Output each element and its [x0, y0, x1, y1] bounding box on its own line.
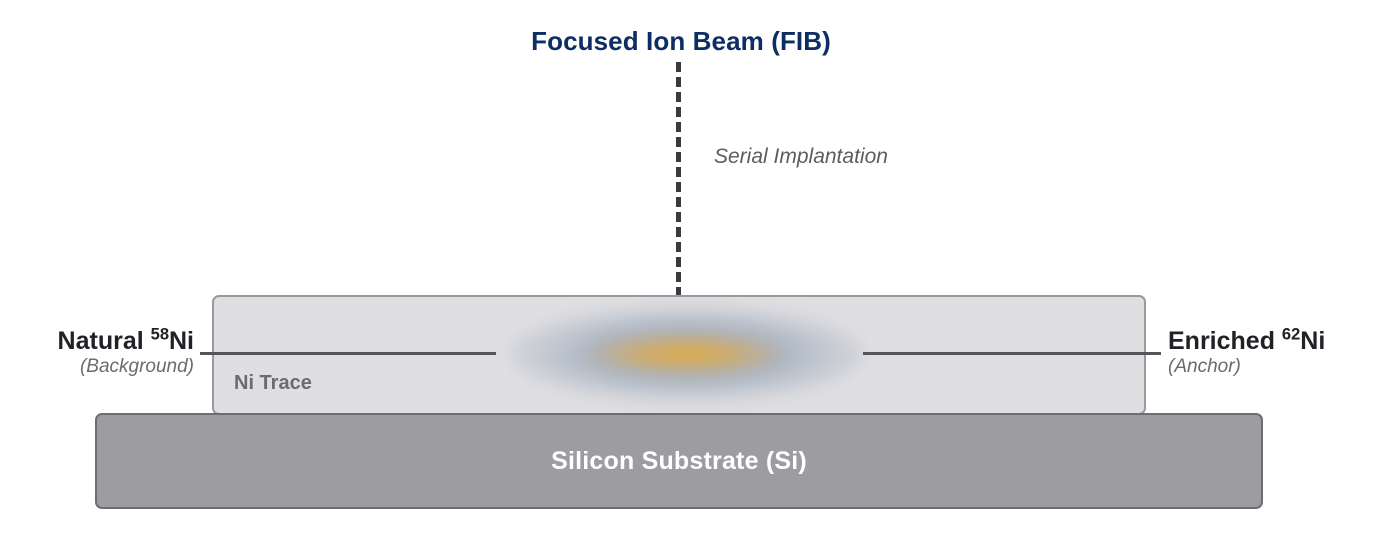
diagram-title: Focused Ion Beam (FIB)	[0, 26, 1362, 57]
enriched-ni-label: Enriched 62Ni (Anchor)	[1168, 328, 1382, 380]
ni-trace-label: Ni Trace	[234, 372, 312, 395]
natural-ni-superscript: 58	[151, 326, 169, 344]
silicon-substrate-layer: Silicon Substrate (Si)	[95, 413, 1263, 509]
natural-ni-main: Natural 58Ni	[8, 328, 194, 354]
leader-line-right	[863, 352, 1161, 355]
enriched-ni-superscript: 62	[1282, 326, 1300, 344]
implantation-core	[586, 333, 786, 375]
natural-ni-prefix: Natural	[58, 327, 151, 355]
enriched-ni-main: Enriched 62Ni	[1168, 328, 1382, 354]
enriched-ni-prefix: Enriched	[1168, 327, 1282, 355]
natural-ni-element: Ni	[169, 327, 194, 355]
natural-ni-label: Natural 58Ni (Background)	[8, 328, 194, 380]
serial-implantation-annotation: Serial Implantation	[714, 145, 888, 169]
natural-ni-sublabel: (Background)	[8, 354, 194, 380]
fib-implantation-diagram: Focused Ion Beam (FIB) Serial Implantati…	[0, 0, 1386, 551]
silicon-substrate-label: Silicon Substrate (Si)	[551, 447, 807, 476]
enriched-ni-sublabel: (Anchor)	[1168, 354, 1382, 380]
enriched-ni-element: Ni	[1300, 327, 1325, 355]
leader-line-left	[200, 352, 496, 355]
ion-beam-dashed-line	[676, 62, 681, 297]
